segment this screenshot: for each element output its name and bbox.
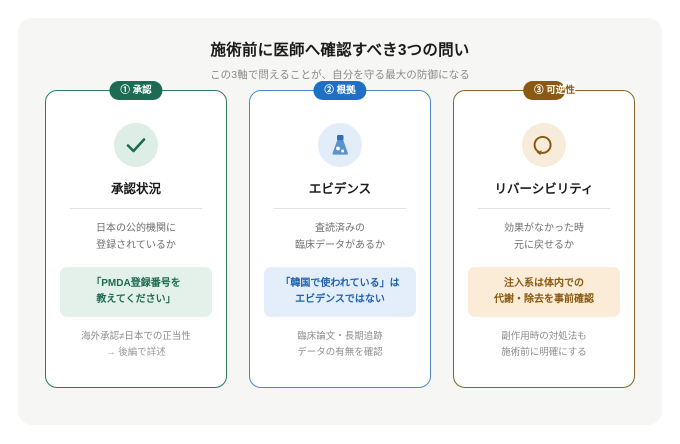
card-badge-label: ① 承認 (120, 85, 151, 96)
check-circle-icon (114, 123, 158, 167)
card-quote-line: 注入系は体内での (474, 276, 614, 292)
card-description: 日本の公的機関に 登録されているか (96, 221, 176, 254)
card-title: リバーシビリティ (494, 178, 593, 197)
card-note: 副作用時の対処法も 施術前に明確にする (501, 329, 587, 360)
card-divider (70, 208, 202, 209)
card-description-line: 効果がなかった時 (504, 221, 584, 238)
card-note: 海外承認≠日本での正当性 → 後編で詳述 (81, 329, 191, 360)
card-note-line: 海外承認≠日本での正当性 (81, 329, 191, 345)
card-list: ① 承認 承認状況 日本の公的機関に 登録されているか 「PMDA登録番号を 教… (18, 90, 662, 388)
card-badge: ③ 可逆性 (523, 81, 565, 100)
undo-arrow-icon (522, 123, 566, 167)
card-description: 効果がなかった時 元に戻せるか (504, 221, 584, 254)
card-badge-label: ③ 可逆 (534, 85, 565, 96)
card-quote-line: 教えてください」 (66, 292, 206, 308)
card-description-line: 元に戻せるか (504, 238, 584, 255)
card-badge: ② 根拠 (313, 81, 366, 100)
card-quote-line: 代謝・除去を事前確認 (474, 292, 614, 308)
card-description: 査読済みの 臨床データがあるか (295, 221, 385, 254)
card-description-line: 臨床データがあるか (295, 238, 385, 255)
card-description-line: 日本の公的機関に (96, 221, 176, 238)
flask-icon (318, 123, 362, 167)
card-note-line: 臨床論文・長期追跡 (297, 329, 383, 345)
page-subtitle: この3軸で問えることが、自分を守る最大の防御になる (18, 67, 662, 82)
card-description-line: 査読済みの (295, 221, 385, 238)
card-note-line: 施術前に明確にする (501, 345, 587, 361)
card-note: 臨床論文・長期追跡 データの有無を確認 (297, 329, 383, 360)
card-note-line: データの有無を確認 (297, 345, 383, 361)
card-approval[interactable]: ① 承認 承認状況 日本の公的機関に 登録されているか 「PMDA登録番号を 教… (45, 90, 227, 388)
infographic-panel: 施術前に医師へ確認すべき3つの問い この3軸で問えることが、自分を守る最大の防御… (18, 18, 662, 425)
card-description-line: 登録されているか (96, 238, 176, 255)
card-divider (478, 208, 610, 209)
card-title: 承認状況 (111, 178, 161, 197)
card-quote-line: エビデンスではない (270, 292, 410, 308)
card-divider (274, 208, 406, 209)
card-quote-line: 「PMDA登録番号を (66, 276, 206, 292)
card-quote: 「韓国で使われている」は エビデンスではない (264, 267, 416, 317)
card-badge-label: ② 根拠 (324, 85, 355, 96)
card-reversibility[interactable]: ③ 可逆性 リバーシビリティ 効果がなかった時 元に戻せるか 注入系は体内での … (453, 90, 635, 388)
card-quote-line: 「韓国で使われている」は (270, 276, 410, 292)
card-badge-overflow: 性 (565, 81, 575, 100)
card-quote: 「PMDA登録番号を 教えてください」 (60, 267, 212, 317)
page-title: 施術前に医師へ確認すべき3つの問い (18, 38, 662, 60)
card-note-line: 副作用時の対処法も (501, 329, 587, 345)
card-badge: ① 承認 (109, 81, 162, 100)
card-note-line: → 後編で詳述 (81, 345, 191, 361)
card-evidence[interactable]: ② 根拠 エビデンス 査読済みの 臨床データがあるか 「韓国で使われている」は … (249, 90, 431, 388)
card-title: エビデンス (309, 178, 371, 197)
card-quote: 注入系は体内での 代謝・除去を事前確認 (468, 267, 620, 317)
header: 施術前に医師へ確認すべき3つの問い この3軸で問えることが、自分を守る最大の防御… (18, 18, 662, 82)
